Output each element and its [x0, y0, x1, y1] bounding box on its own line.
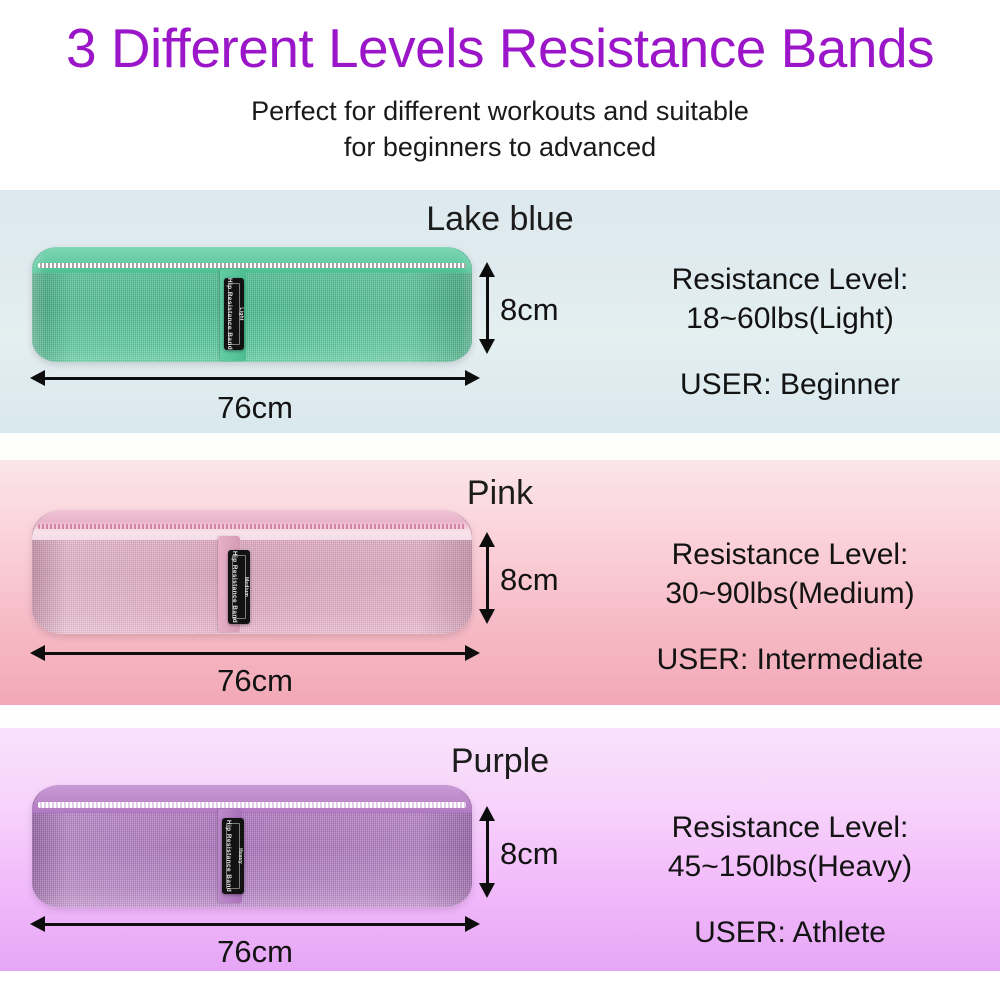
- user-label: USER: Intermediate: [580, 640, 1000, 679]
- subtitle-line-2: for beginners to advanced: [0, 130, 1000, 166]
- spec-block-purple: Resistance Level: 45~150lbs(Heavy) USER:…: [580, 808, 1000, 952]
- resistance-value: 18~60lbs(Light): [580, 299, 1000, 338]
- width-dimension-arrow: [30, 916, 480, 932]
- width-dimension-label: 76cm: [30, 663, 480, 699]
- subtitle-line-1: Perfect for different workouts and suita…: [0, 94, 1000, 130]
- height-dimension-arrow: [479, 806, 495, 898]
- tag-brand: Hip Resistance Band: [231, 551, 238, 623]
- tag-level: Medium: [240, 551, 250, 623]
- color-name-label: Lake blue: [0, 200, 1000, 239]
- product-tag: Medium Hip Resistance Band: [228, 550, 250, 624]
- product-tag: Light Hip Resistance Band: [224, 278, 244, 350]
- width-dimension-label: 76cm: [30, 934, 480, 970]
- resistance-title: Resistance Level:: [580, 808, 1000, 847]
- width-dimension-label: 76cm: [30, 390, 480, 426]
- product-panel-lake-blue: Lake blue Light Hip Resistance Band 8cm …: [0, 190, 1000, 433]
- width-dimension-arrow: [30, 645, 480, 661]
- product-panel-purple: Purple Heavy Hip Resistance Band 8cm 76c…: [0, 728, 1000, 971]
- spec-block-lake-blue: Resistance Level: 18~60lbs(Light) USER: …: [580, 260, 1000, 404]
- page-title: 3 Different Levels Resistance Bands: [0, 0, 1000, 76]
- tag-brand: Hip Resistance Band: [226, 278, 233, 350]
- product-panel-pink: Pink Medium Hip Resistance Band 8cm 76cm…: [0, 460, 1000, 705]
- resistance-title: Resistance Level:: [580, 260, 1000, 299]
- spec-block-pink: Resistance Level: 30~90lbs(Medium) USER:…: [580, 535, 1000, 679]
- height-dimension-arrow: [479, 532, 495, 624]
- tag-level: Light: [235, 278, 245, 350]
- panel-divider-1: [0, 433, 1000, 460]
- height-dimension-label: 8cm: [500, 562, 559, 598]
- resistance-band-image-lake-blue: Light Hip Resistance Band: [32, 247, 472, 362]
- resistance-band-image-pink: Medium Hip Resistance Band: [32, 510, 472, 634]
- header-section: 3 Different Levels Resistance Bands Perf…: [0, 0, 1000, 190]
- resistance-title: Resistance Level:: [580, 535, 1000, 574]
- tag-brand: Hip Resistance Band: [225, 820, 232, 892]
- height-dimension-label: 8cm: [500, 292, 559, 328]
- color-name-label: Pink: [0, 474, 1000, 513]
- height-dimension-label: 8cm: [500, 836, 559, 872]
- resistance-value: 30~90lbs(Medium): [580, 574, 1000, 613]
- panel-divider-2: [0, 705, 1000, 728]
- height-dimension-arrow: [479, 262, 495, 354]
- resistance-band-image-purple: Heavy Hip Resistance Band: [32, 785, 472, 907]
- product-tag: Heavy Hip Resistance Band: [222, 818, 244, 894]
- footer-spacer: [0, 971, 1000, 998]
- width-dimension-arrow: [30, 370, 480, 386]
- color-name-label: Purple: [0, 742, 1000, 781]
- page-subtitle: Perfect for different workouts and suita…: [0, 94, 1000, 165]
- resistance-value: 45~150lbs(Heavy): [580, 847, 1000, 886]
- user-label: USER: Beginner: [580, 365, 1000, 404]
- tag-level: Heavy: [234, 820, 244, 892]
- user-label: USER: Athlete: [580, 913, 1000, 952]
